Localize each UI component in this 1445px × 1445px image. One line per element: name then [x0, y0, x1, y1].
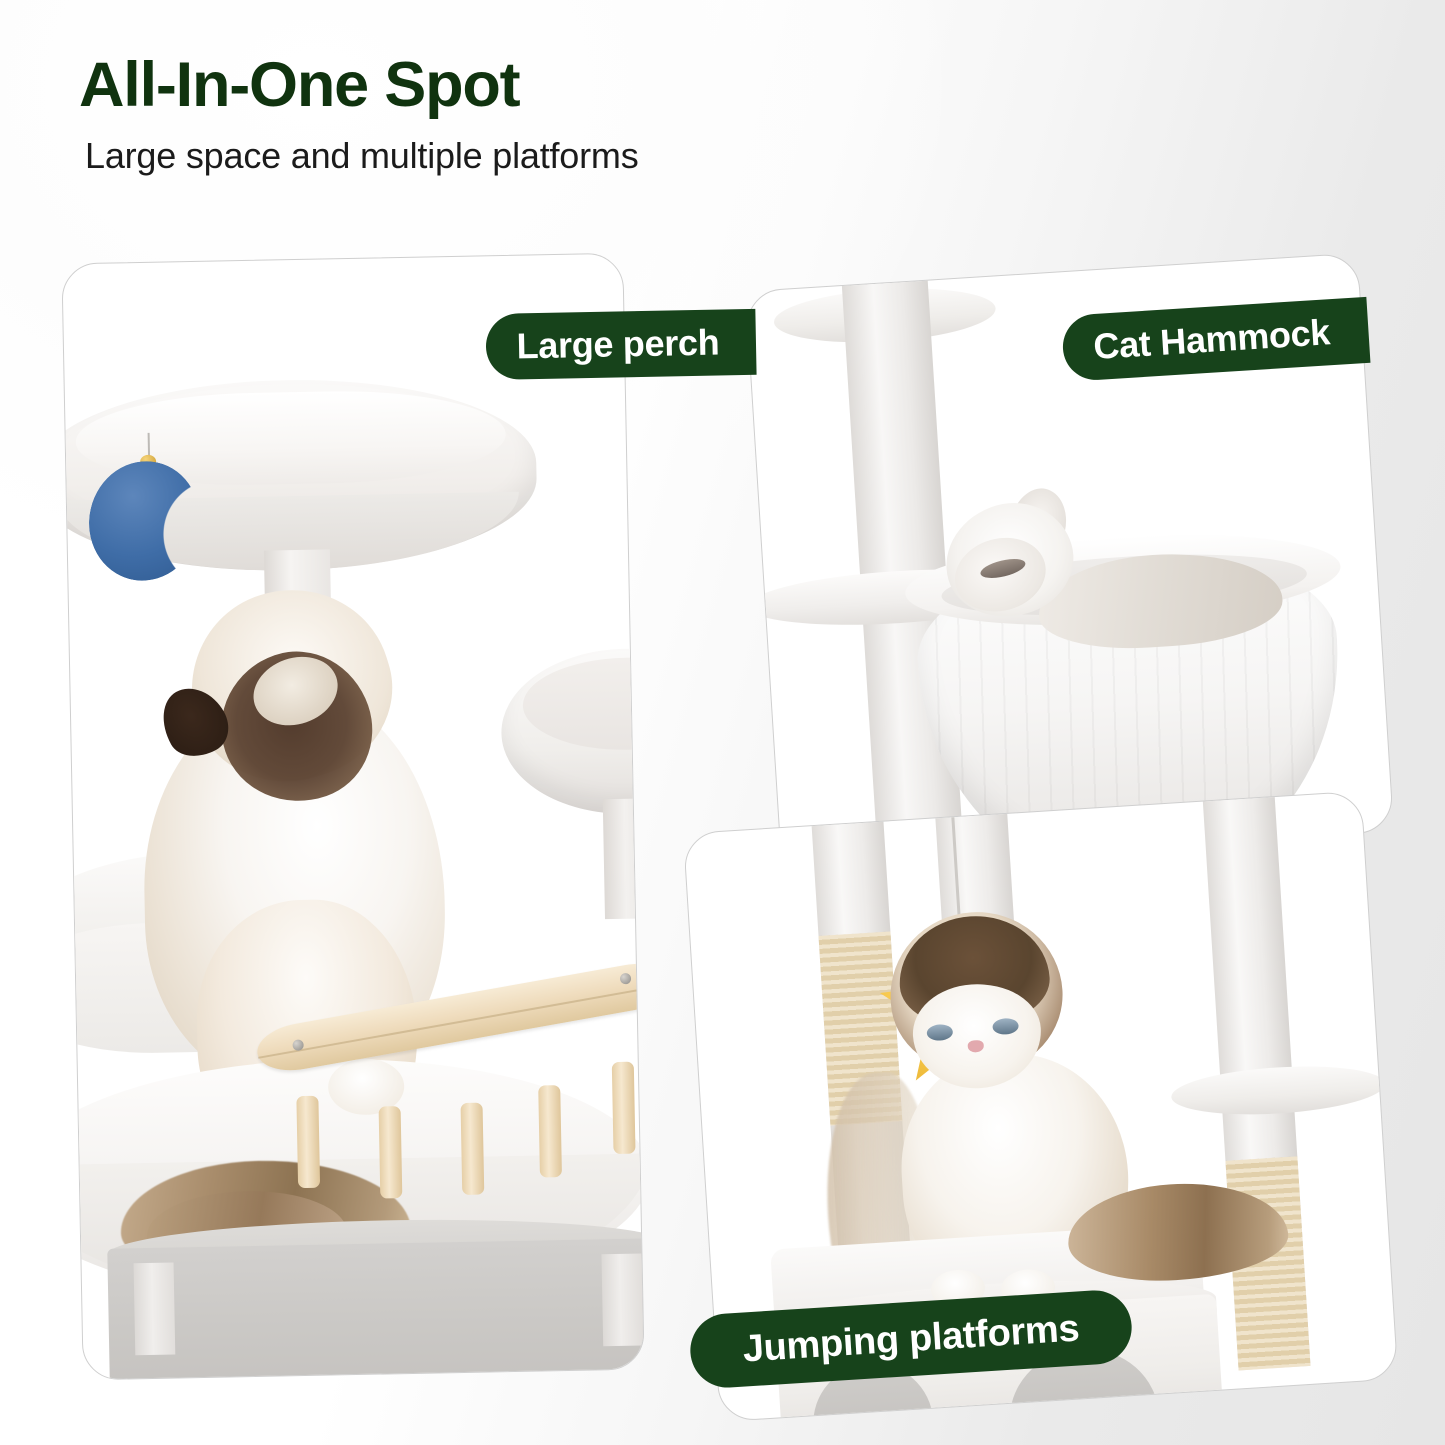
header-block: All-In-One Spot Large space and multiple… [79, 52, 979, 176]
page-subtitle: Large space and multiple platforms [85, 136, 979, 176]
side-platform [1170, 1061, 1386, 1120]
gray-base-panel [107, 1238, 643, 1379]
screw-icon [619, 972, 632, 985]
panel-large-perch [61, 253, 644, 1381]
badge-large-perch: Large perch [485, 309, 756, 380]
secondary-bed-post [603, 798, 644, 919]
wooden-peg [296, 1096, 320, 1188]
wooden-peg [538, 1085, 562, 1177]
base-leg [601, 1254, 643, 1347]
panel-large-perch-art [62, 254, 643, 1380]
wooden-peg [612, 1062, 636, 1154]
base-leg [134, 1263, 176, 1356]
marketing-image: All-In-One Spot Large space and multiple… [0, 0, 1445, 1445]
wooden-peg [461, 1103, 485, 1195]
page-title: All-In-One Spot [79, 52, 979, 118]
wooden-peg [379, 1106, 403, 1198]
